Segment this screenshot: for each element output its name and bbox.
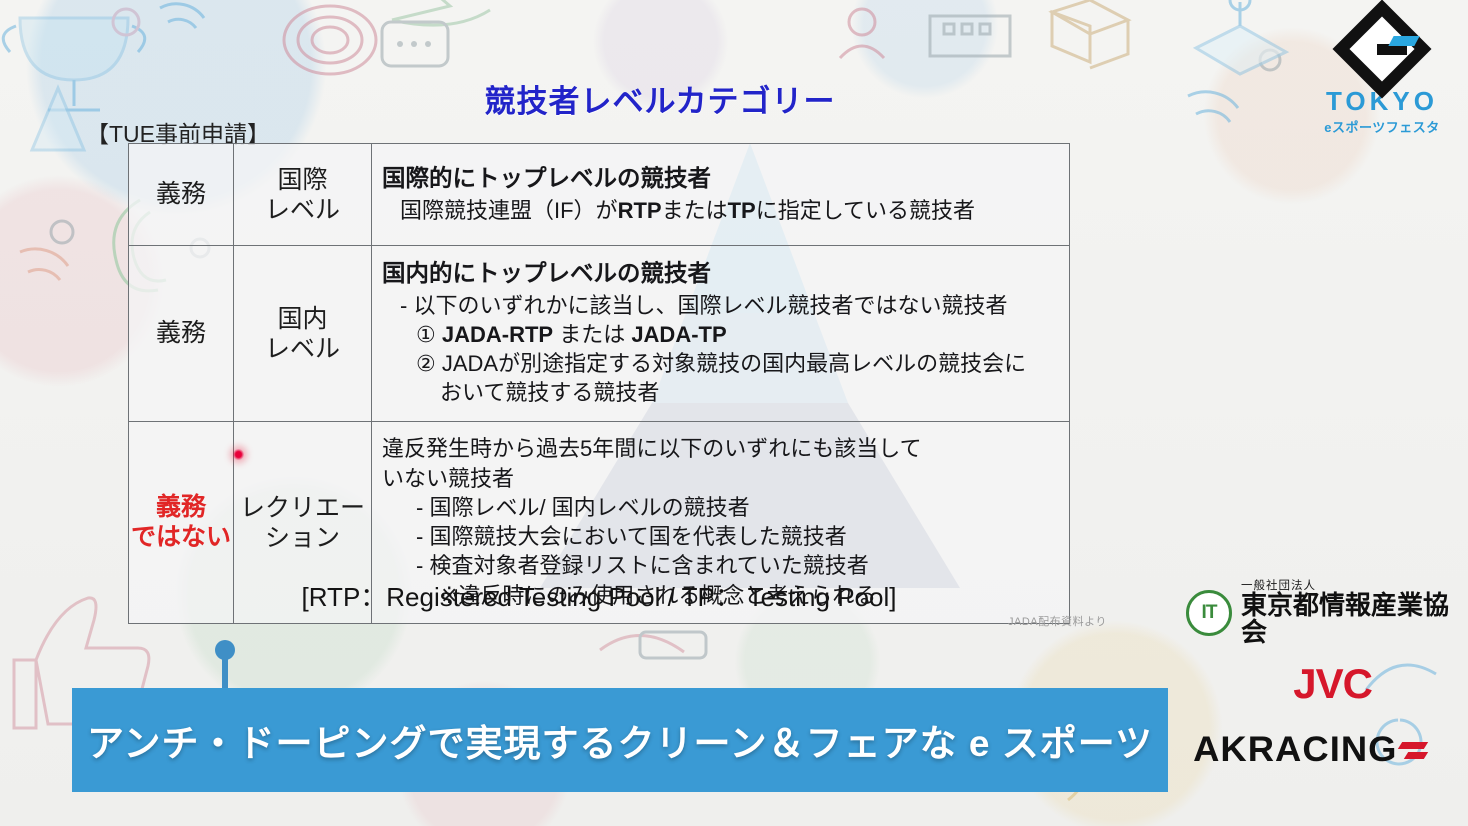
level-line-2: レベル bbox=[265, 196, 340, 224]
sponsor-rail: TOKYO eスポーツフェスタ スタ bbox=[1168, 0, 1468, 826]
desc-heading: 国際的にトップレベルの競技者 bbox=[382, 163, 1067, 194]
desc-line: おいて競技する競技者 bbox=[382, 378, 1067, 407]
desc-line: 違反発生時から過去5年間に以下のいずれにも該当して bbox=[382, 434, 1067, 463]
e-diamond-icon bbox=[1347, 14, 1417, 84]
obligation-line-1: 義務 bbox=[156, 493, 206, 521]
source-note: JADA配布資料より bbox=[1008, 613, 1107, 629]
bottom-banner: アンチ・ドーピングで実現するクリーン＆フェアな e スポーツ bbox=[72, 688, 1168, 792]
desc-line: 国際競技連盟（IF）がRTPまたはTPに指定している競技者 bbox=[382, 196, 1067, 225]
it-association-logo: IT 一般社団法人 東京都情報産業協会 bbox=[1186, 580, 1454, 647]
akracing-logo-text: AKRACING bbox=[1193, 730, 1397, 770]
laser-pointer-dot bbox=[233, 449, 244, 460]
desc-line: - 以下のいずれかに該当し、国際レベル競技者ではない競技者 bbox=[382, 291, 1067, 320]
desc-line: ① JADA-RTP または JADA-TP bbox=[382, 320, 1067, 349]
cell-level: 国際 レベル bbox=[234, 144, 372, 246]
presentation-slide: 競技者レベルカテゴリー 【TUE事前申請】 義務 国際 レベル 国際的に bbox=[70, 45, 1168, 685]
obligation-text: 義務 bbox=[156, 180, 206, 208]
level-line-2: ション bbox=[265, 524, 340, 552]
level-line-1: 国際 bbox=[277, 166, 327, 194]
desc-line: - 国際競技大会において国を代表した競技者 bbox=[382, 522, 1067, 551]
competitor-level-table: 義務 国際 レベル 国際的にトップレベルの競技者 国際競技連盟（IF）がRTPま… bbox=[128, 143, 1070, 624]
it-logo-big-text: 東京都情報産業協会 bbox=[1241, 592, 1454, 647]
screen: 競技者レベルカテゴリー 【TUE事前申請】 義務 国際 レベル 国際的に bbox=[0, 0, 1468, 826]
tokyo-esports-festa-logo: TOKYO eスポーツフェスタ bbox=[1314, 14, 1450, 136]
level-line-1: 国内 bbox=[277, 305, 327, 333]
jvc-logo: JVC bbox=[1293, 660, 1372, 708]
akracing-logo: AKRACING bbox=[1197, 730, 1426, 770]
cell-description: 国内的にトップレベルの競技者 - 以下のいずれかに該当し、国際レベル競技者ではな… bbox=[372, 246, 1070, 422]
it-logo-texts: 一般社団法人 東京都情報産業協会 bbox=[1241, 580, 1454, 647]
desc-line: - 国際レベル/ 国内レベルの競技者 bbox=[382, 493, 1067, 522]
banner-text: アンチ・ドーピングで実現するクリーン＆フェアな e スポーツ bbox=[87, 713, 1153, 767]
slide-title: 競技者レベルカテゴリー bbox=[400, 76, 920, 121]
tokyo-logo-subtitle: eスポーツフェスタ bbox=[1314, 117, 1450, 136]
level-line-1: レクリエー bbox=[240, 494, 365, 522]
desc-line: いない競技者 bbox=[382, 464, 1067, 493]
table-row: 義務 国内 レベル 国内的にトップレベルの競技者 - 以下のいずれかに該当し、国… bbox=[129, 246, 1070, 422]
akracing-chevron-icon bbox=[1400, 742, 1426, 759]
cell-obligation: 義務 bbox=[129, 246, 234, 422]
table-row: 義務 国際 レベル 国際的にトップレベルの競技者 国際競技連盟（IF）がRTPま… bbox=[129, 144, 1070, 246]
obligation-line-2: ではない bbox=[131, 523, 231, 551]
obligation-text: 義務 bbox=[156, 319, 206, 347]
cell-obligation: 義務 bbox=[129, 144, 234, 246]
it-badge-text: IT bbox=[1202, 602, 1217, 624]
it-badge-icon: IT bbox=[1186, 590, 1232, 636]
cell-level: 国内 レベル bbox=[234, 246, 372, 422]
cell-description: 国際的にトップレベルの競技者 国際競技連盟（IF）がRTPまたはTPに指定してい… bbox=[372, 144, 1070, 246]
slide-footnote: [RTP：Registered Testing Pool / TP： Testi… bbox=[128, 577, 1070, 614]
desc-line: ② JADAが別途指定する対象競技の国内最高レベルの競技会に bbox=[382, 349, 1067, 378]
desc-heading: 国内的にトップレベルの競技者 bbox=[382, 258, 1067, 289]
level-line-2: レベル bbox=[265, 335, 340, 363]
